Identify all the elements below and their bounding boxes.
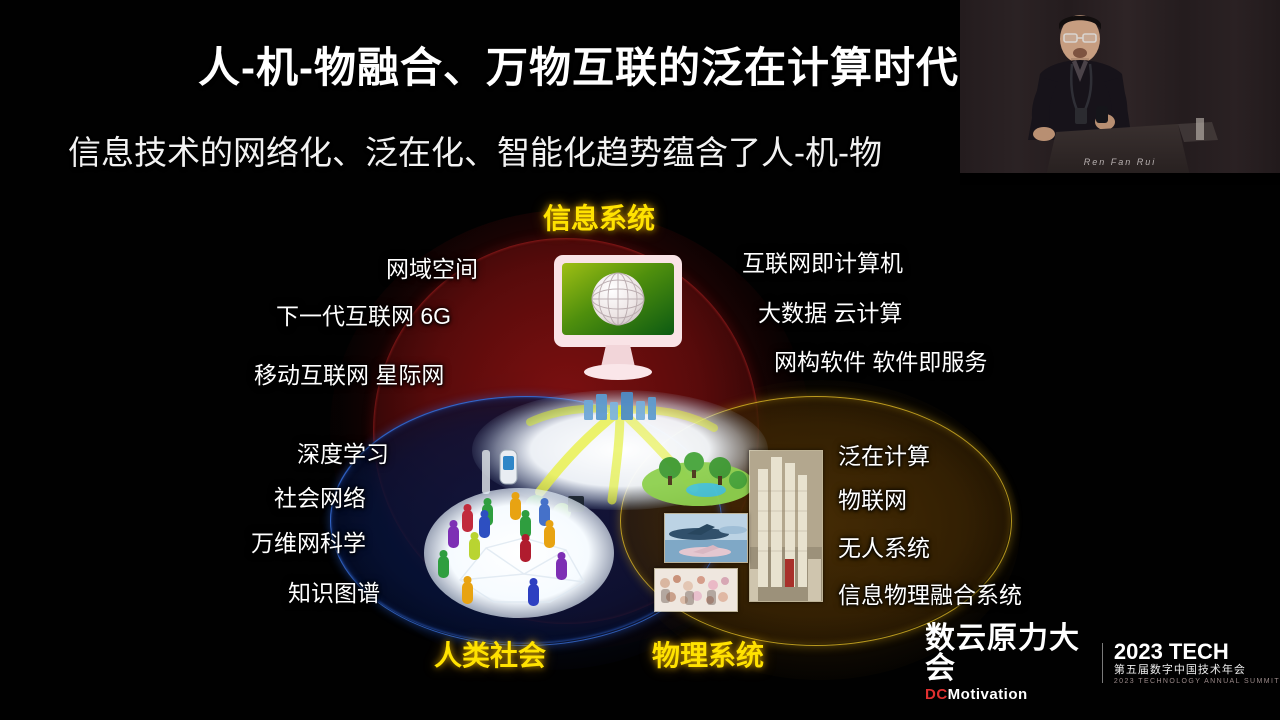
conference-logo: 数云原力大会 DCMotivation 2023 TECH 第五届数字中国技术年… (925, 634, 1280, 692)
slide-stage: 人-机-物融合、万物互联的泛在计算时代 信息技术的网络化、泛在化、智能化趋势蕴含… (0, 0, 1280, 720)
keyword-human-0: 深度学习 (297, 435, 389, 469)
airplane-photo-tile (664, 513, 748, 563)
logo-brand-cn: 数云原力大会 (925, 624, 1091, 684)
venn-label-information-system: 信息系统 (543, 197, 655, 237)
keyword-human-1: 社会网络 (274, 479, 366, 513)
keyword-physical-3: 信息物理融合系统 (838, 576, 1022, 610)
speaker-caption: Ren Fan Rui (960, 157, 1280, 167)
speaker-video-overlay[interactable]: Ren Fan Rui (960, 0, 1280, 185)
keyword-info-left-2: 移动互联网 星际网 (254, 356, 444, 390)
logo-summit-cn: 第五届数字中国技术年会 (1114, 663, 1280, 677)
keyword-info-right-1: 大数据 云计算 (758, 294, 902, 328)
keyword-info-right-2: 网构软件 软件即服务 (774, 343, 987, 377)
people-network-icon (424, 488, 614, 618)
logo-year-tech: 2023 TECH (1114, 640, 1280, 663)
logo-brand-en-rest: Motivation (948, 686, 1028, 703)
video-bottom-bar (960, 173, 1280, 185)
keyword-physical-1: 物联网 (838, 481, 907, 515)
logo-brand-en: DCMotivation (925, 687, 1091, 702)
keyword-human-2: 万维网科学 (251, 524, 366, 558)
keyword-physical-0: 泛在计算 (838, 437, 930, 471)
logo-brand-en-dc: DC (925, 686, 948, 703)
keyword-info-right-0: 互联网即计算机 (742, 244, 903, 278)
keyword-physical-2: 无人系统 (838, 529, 930, 563)
logo-divider (1102, 643, 1103, 683)
monitor-globe-icon (548, 253, 688, 383)
venn-label-human-society: 人类社会 (434, 634, 546, 674)
venn-label-physical-system: 物理系统 (652, 634, 764, 674)
logo-summit-en: 2023 TECHNOLOGY ANNUAL SUMMIT (1114, 677, 1280, 686)
crowd-photo-tile (654, 568, 738, 612)
keyword-info-left-1: 下一代互联网 6G (276, 297, 451, 331)
skyscraper-photo-tile (749, 450, 823, 602)
keyword-human-3: 知识图谱 (288, 574, 380, 608)
keyword-info-left-0: 网域空间 (386, 250, 478, 284)
